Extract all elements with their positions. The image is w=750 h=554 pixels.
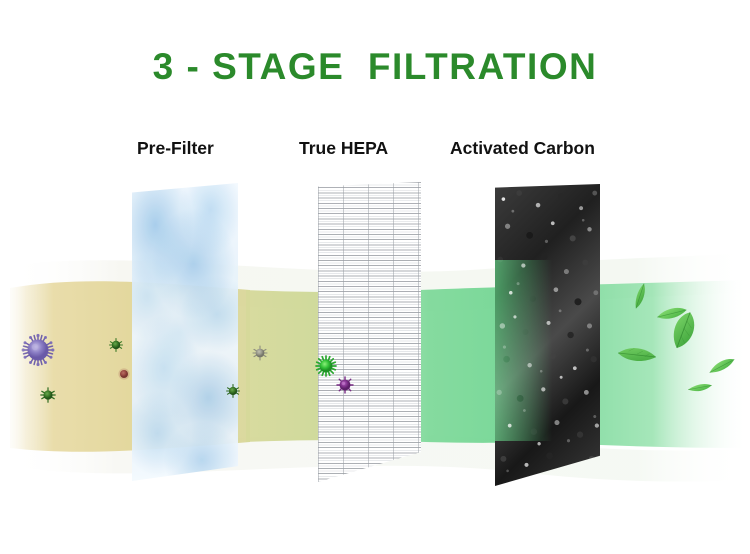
stage-label-true-hepa: True HEPA [299,138,388,159]
stage-label-pre-filter: Pre-Filter [137,138,214,159]
leaf-4 [708,355,737,375]
leaf-1 [633,283,647,310]
page-title: 3 - STAGE FILTRATION [0,46,750,88]
leaf-6 [688,383,713,393]
stage-label-activated-carbon: Activated Carbon [450,138,595,159]
leaf-5 [617,344,657,365]
infographic-canvas: 3 - STAGE FILTRATION Pre-Filter True HEP… [0,0,750,554]
